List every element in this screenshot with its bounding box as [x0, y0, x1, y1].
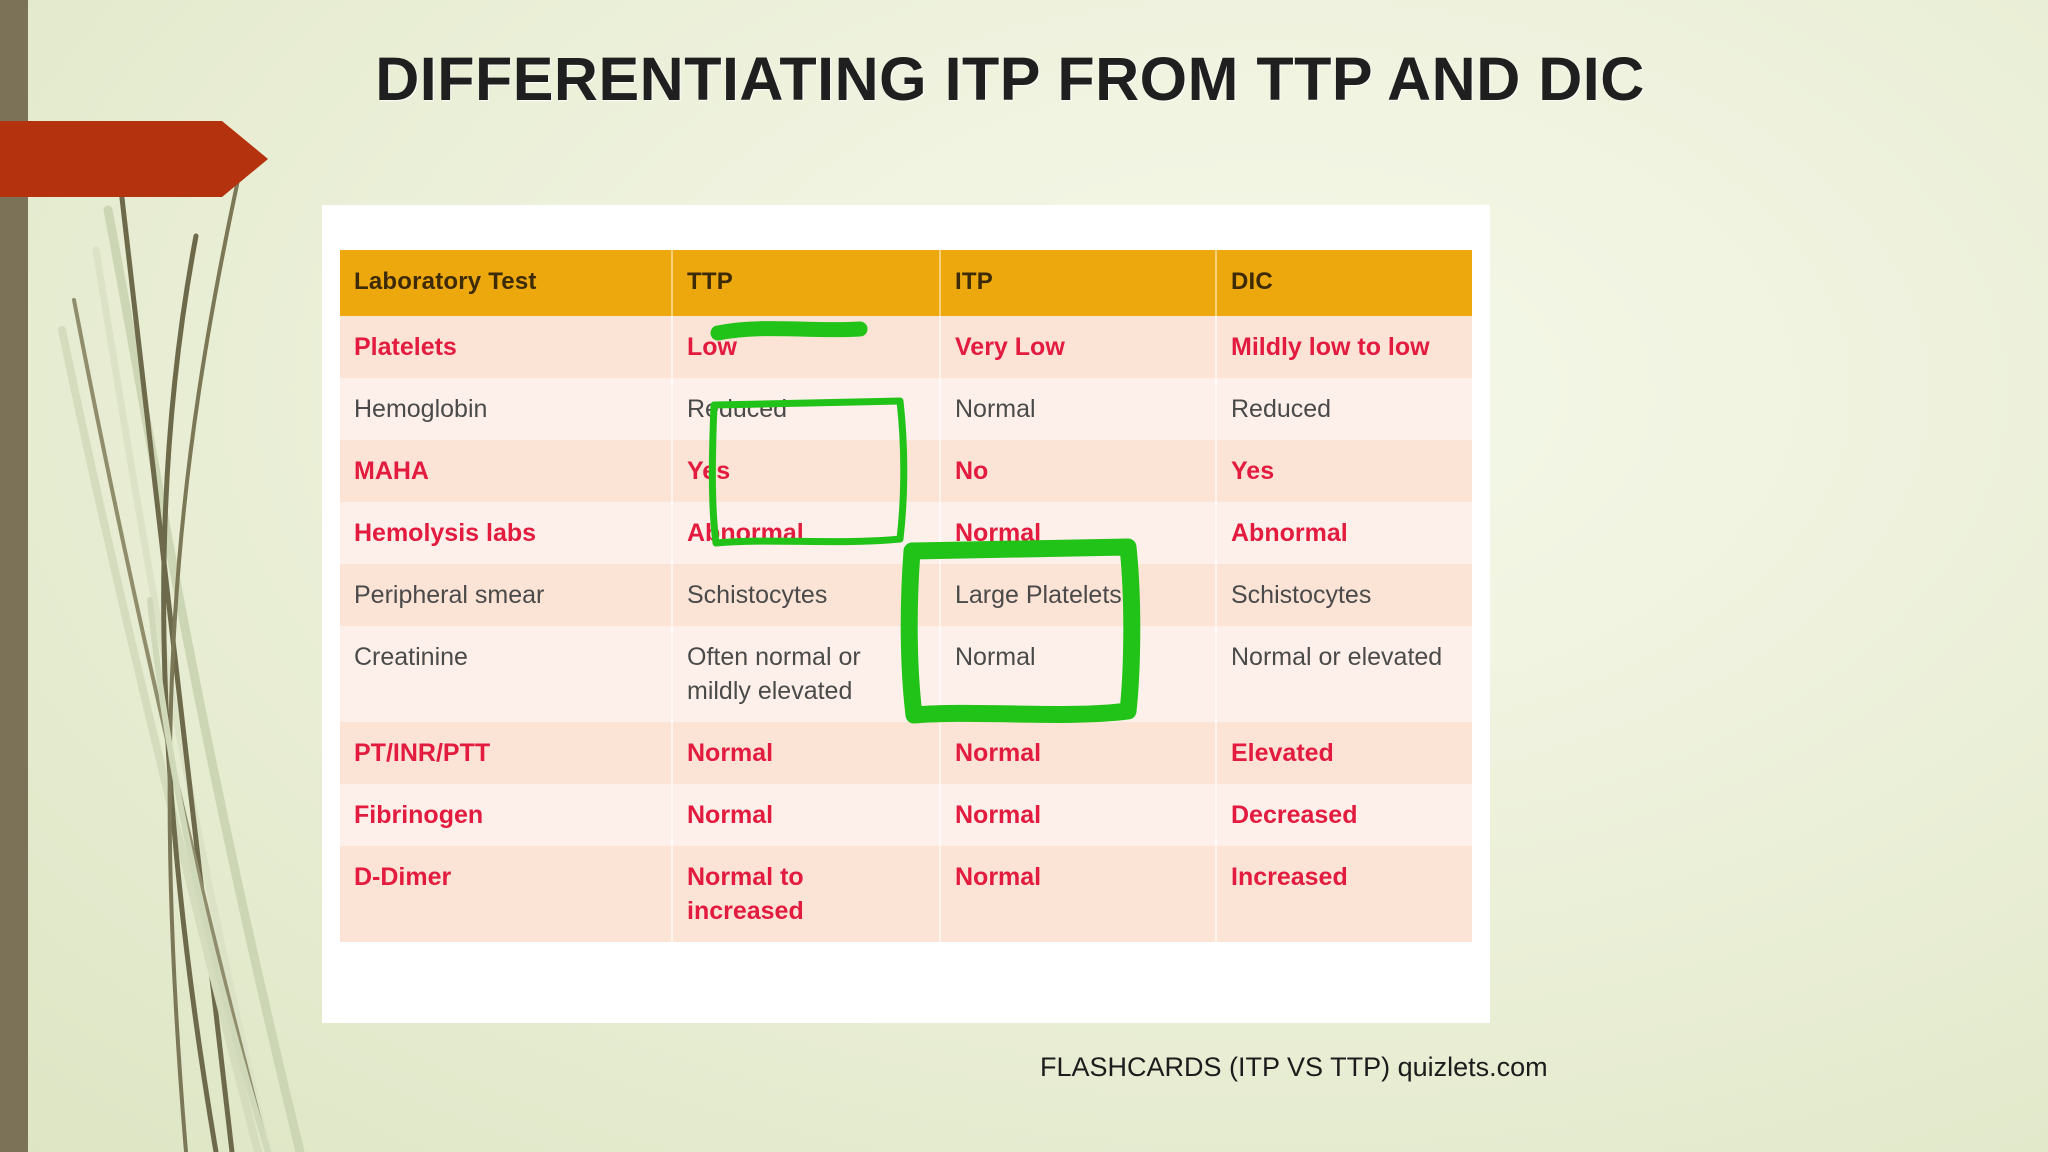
cell-ttp: Reduced: [672, 378, 940, 440]
table-row: Fibrinogen Normal Normal Decreased: [340, 784, 1472, 846]
cell-ttp: Schistocytes: [672, 564, 940, 626]
cell-test: PT/INR/PTT: [340, 722, 672, 784]
cell-ttp: Yes: [672, 440, 940, 502]
table-row: D-Dimer Normal to increased Normal Incre…: [340, 846, 1472, 942]
cell-test: Creatinine: [340, 626, 672, 722]
cell-itp: Normal: [940, 846, 1216, 942]
cell-dic: Normal or elevated: [1216, 626, 1472, 722]
cell-test: Fibrinogen: [340, 784, 672, 846]
table-row: MAHA Yes No Yes: [340, 440, 1472, 502]
column-header-dic: DIC: [1216, 250, 1472, 316]
cell-dic: Elevated: [1216, 722, 1472, 784]
red-arrow-banner: [0, 121, 268, 197]
cell-test: MAHA: [340, 440, 672, 502]
cell-ttp: Normal: [672, 722, 940, 784]
cell-ttp: Low: [672, 316, 940, 378]
source-caption: FLASHCARDS (ITP VS TTP) quizlets.com: [1040, 1052, 1548, 1083]
cell-dic: Schistocytes: [1216, 564, 1472, 626]
cell-dic: Abnormal: [1216, 502, 1472, 564]
cell-dic: Reduced: [1216, 378, 1472, 440]
table-header-row: Laboratory Test TTP ITP DIC: [340, 250, 1472, 316]
cell-test: Platelets: [340, 316, 672, 378]
cell-dic: Decreased: [1216, 784, 1472, 846]
column-header-ttp: TTP: [672, 250, 940, 316]
column-header-itp: ITP: [940, 250, 1216, 316]
slide: DIFFERENTIATING ITP FROM TTP AND DIC Lab…: [0, 0, 2048, 1152]
cell-test: Hemolysis labs: [340, 502, 672, 564]
page-title: DIFFERENTIATING ITP FROM TTP AND DIC: [300, 44, 1720, 114]
cell-itp: Normal: [940, 784, 1216, 846]
lab-comparison-table: Laboratory Test TTP ITP DIC Platelets Lo…: [340, 250, 1472, 942]
table-row: Creatinine Often normal or mildly elevat…: [340, 626, 1472, 722]
table-card: Laboratory Test TTP ITP DIC Platelets Lo…: [322, 205, 1490, 1023]
table-row: Hemoglobin Reduced Normal Reduced: [340, 378, 1472, 440]
cell-ttp: Normal to increased: [672, 846, 940, 942]
column-header-laboratory-test: Laboratory Test: [340, 250, 672, 316]
cell-itp: Normal: [940, 722, 1216, 784]
cell-itp: Normal: [940, 626, 1216, 722]
table-row: Peripheral smear Schistocytes Large Plat…: [340, 564, 1472, 626]
table-row: PT/INR/PTT Normal Normal Elevated: [340, 722, 1472, 784]
cell-itp: Normal: [940, 502, 1216, 564]
cell-itp: Very Low: [940, 316, 1216, 378]
cell-test: D-Dimer: [340, 846, 672, 942]
cell-ttp: Abnormal: [672, 502, 940, 564]
cell-dic: Increased: [1216, 846, 1472, 942]
cell-itp: Large Platelets: [940, 564, 1216, 626]
cell-itp: Normal: [940, 378, 1216, 440]
cell-dic: Mildly low to low: [1216, 316, 1472, 378]
cell-ttp: Normal: [672, 784, 940, 846]
cell-itp: No: [940, 440, 1216, 502]
table-row: Platelets Low Very Low Mildly low to low: [340, 316, 1472, 378]
cell-ttp: Often normal or mildly elevated: [672, 626, 940, 722]
cell-test: Peripheral smear: [340, 564, 672, 626]
cell-dic: Yes: [1216, 440, 1472, 502]
table-row: Hemolysis labs Abnormal Normal Abnormal: [340, 502, 1472, 564]
cell-test: Hemoglobin: [340, 378, 672, 440]
